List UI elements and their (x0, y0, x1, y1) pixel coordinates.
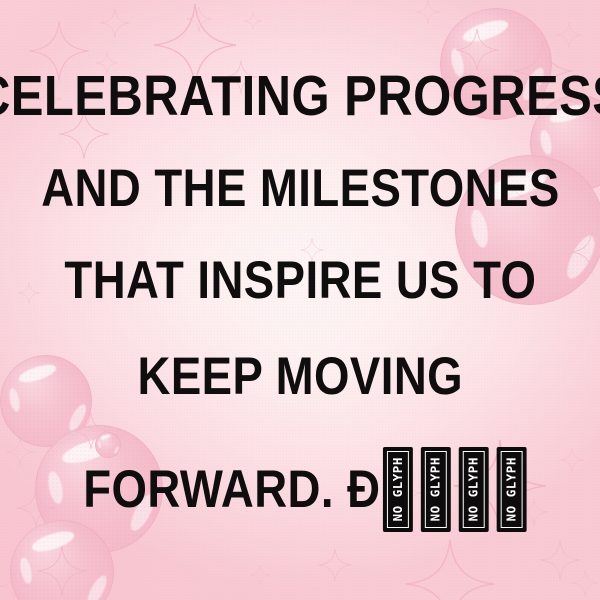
missing-glyph-group: NO GLYPHNO GLYPHNO GLYPHNO GLYPH (383, 447, 527, 532)
quote-line-4: keep moving (137, 350, 463, 403)
missing-glyph-label: NO GLYPH (429, 457, 441, 521)
missing-glyph-box: NO GLYPH (383, 447, 413, 532)
quote-line-5-words: forward. Ð (83, 463, 380, 516)
missing-glyph-label: NO GLYPH (467, 457, 479, 521)
quote-text-block: Celebrating progress and the milestones … (0, 0, 600, 600)
missing-glyph-box: NO GLYPH (421, 447, 451, 532)
quote-line-2: and the milestones (41, 162, 559, 215)
quote-line-5: forward. Ð NO GLYPHNO GLYPHNO GLYPHNO GL… (83, 447, 516, 532)
missing-glyph-box: NO GLYPH (497, 447, 527, 532)
missing-glyph-box: NO GLYPH (459, 447, 489, 532)
quote-poster: Celebrating progress and the milestones … (0, 0, 600, 600)
quote-line-1: Celebrating progress (0, 68, 600, 125)
quote-line-3: that inspire us to (64, 254, 536, 307)
missing-glyph-label: NO GLYPH (505, 457, 517, 521)
missing-glyph-label: NO GLYPH (392, 457, 404, 521)
